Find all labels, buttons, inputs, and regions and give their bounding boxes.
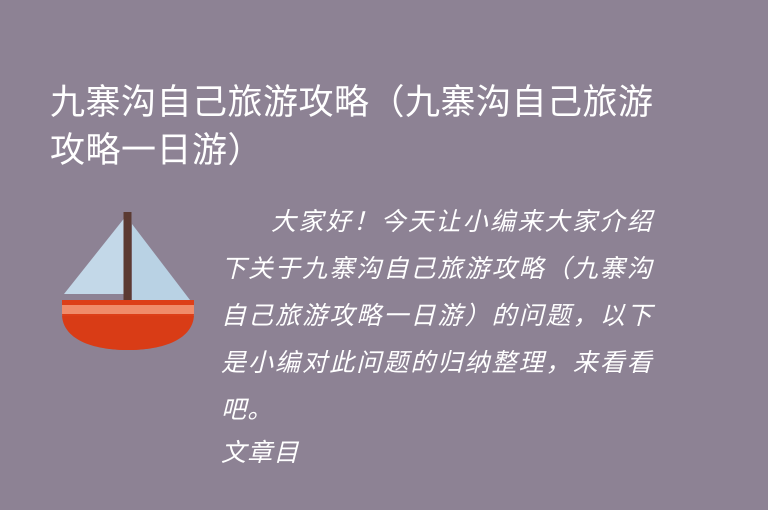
toc-heading-stub: 文章目 [221, 433, 653, 473]
intro-paragraph: 大家好！今天让小编来大家介绍下关于九寨沟自己旅游攻略（九寨沟自己旅游攻略一日游）… [221, 198, 653, 433]
article-body: 大家好！今天让小编来大家介绍下关于九寨沟自己旅游攻略（九寨沟自己旅游攻略一日游）… [221, 198, 653, 473]
sailboat-icon [58, 208, 198, 353]
article-page: 九寨沟自己旅游攻略（九寨沟自己旅游攻略一日游） 大家好！今天让小编来大家介绍下关… [0, 0, 768, 510]
page-title: 九寨沟自己旅游攻略（九寨沟自己旅游攻略一日游） [50, 79, 660, 175]
